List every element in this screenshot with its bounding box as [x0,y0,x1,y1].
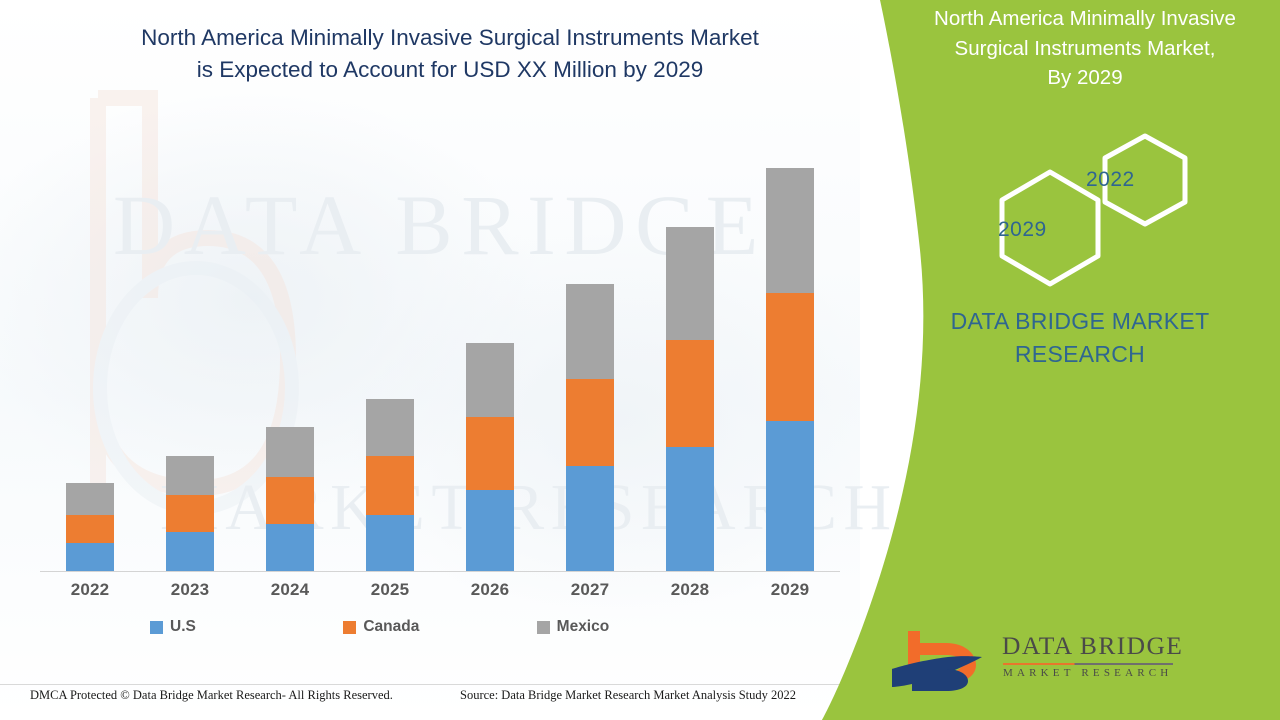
bar-segment-canada [766,293,814,421]
green-panel-content: North America Minimally Invasive Surgica… [880,0,1280,720]
x-axis-label-2025: 2025 [340,580,440,600]
bar-segment-us [766,421,814,571]
footer-divider [0,684,860,685]
bar-segment-canada [666,340,714,447]
bar-segment-us [666,447,714,571]
panel-title-line-2: Surgical Instruments Market, [890,34,1280,64]
legend-label: U.S [170,618,196,636]
bar-segment-canada [466,417,514,490]
brand-name-line-2: RESEARCH [880,338,1280,371]
legend-label: Canada [363,618,419,636]
infographic-canvas: DATA BRIDGE MARKET RESEARCH North Americ… [0,0,1280,720]
bar-stack-2027 [566,284,614,571]
bar-column [140,121,240,571]
bar-stack-2023 [166,456,214,571]
bar-segment-mexico [466,343,514,417]
x-axis-label-2027: 2027 [540,580,640,600]
bar-stack-2025 [366,399,414,571]
bar-segment-mexico [766,168,814,293]
chart-legend: U.SCanadaMexico [150,618,730,636]
bar-segment-canada [266,477,314,524]
bar-stack-2028 [666,227,714,571]
logo-rule [1003,663,1173,665]
bar-segment-mexico [566,284,614,379]
legend-swatch-icon [343,621,356,634]
hexagon-2029-label: 2029 [998,218,1047,242]
bar-stack-2029 [766,168,814,571]
bar-stack-2026 [466,343,514,571]
x-axis-label-2024: 2024 [240,580,340,600]
bar-column [640,121,740,571]
bar-segment-canada [166,495,214,532]
bar-column [540,121,640,571]
hexagon-badges: 2029 2022 [960,128,1280,298]
bar-segment-us [166,532,214,571]
bar-column [340,121,440,571]
panel-title-line-3: By 2029 [890,63,1280,93]
bar-segment-us [366,515,414,571]
bar-column [440,121,540,571]
footer-source: Source: Data Bridge Market Research Mark… [460,688,796,703]
legend-swatch-icon [150,621,163,634]
page-title-line-2: is Expected to Account for USD XX Millio… [50,54,850,86]
bar-segment-mexico [366,399,414,456]
hexagon-2022-label: 2022 [1086,168,1135,192]
x-axis-labels: 20222023202420252026202720282029 [40,580,840,600]
legend-item-us[interactable]: U.S [150,618,343,636]
legend-label: Mexico [557,618,610,636]
legend-swatch-icon [537,621,550,634]
bar-segment-mexico [266,427,314,477]
panel-title-line-1: North America Minimally Invasive [890,4,1280,34]
data-bridge-logo-mark [890,625,995,695]
page-title-line-1: North America Minimally Invasive Surgica… [50,22,850,54]
stacked-bar-chart [40,120,840,572]
brand-name-line-1: DATA BRIDGE MARKET [880,305,1280,338]
x-axis-label-2029: 2029 [740,580,840,600]
x-axis-line [40,571,840,572]
bar-column [40,121,140,571]
bar-segment-canada [566,379,614,467]
legend-item-canada[interactable]: Canada [343,618,536,636]
x-axis-label-2022: 2022 [40,580,140,600]
bar-stack-2022 [66,483,114,571]
bar-segment-us [66,543,114,571]
brand-name: DATA BRIDGE MARKET RESEARCH [880,305,1280,370]
bar-segment-us [566,466,614,571]
data-bridge-logo: DATA BRIDGE MARKET RESEARCH [890,625,1220,697]
hexagon-outlines [960,128,1280,298]
bar-segment-mexico [66,483,114,515]
bar-stack-2024 [266,427,314,571]
x-axis-label-2026: 2026 [440,580,540,600]
bar-segment-mexico [166,456,214,494]
bar-column [240,121,340,571]
bar-segment-canada [66,515,114,543]
x-axis-label-2028: 2028 [640,580,740,600]
bar-column [740,121,840,571]
logo-wordmark: DATA BRIDGE [1002,631,1183,661]
legend-item-mexico[interactable]: Mexico [537,618,730,636]
bar-segment-mexico [666,227,714,341]
chart-bars [40,121,840,571]
bar-segment-canada [366,456,414,515]
bar-segment-us [266,524,314,571]
logo-subtitle: MARKET RESEARCH [1003,667,1172,679]
x-axis-label-2023: 2023 [140,580,240,600]
footer-copyright: DMCA Protected © Data Bridge Market Rese… [30,688,393,703]
bar-segment-us [466,490,514,571]
panel-title: North America Minimally Invasive Surgica… [890,4,1280,93]
page-title: North America Minimally Invasive Surgica… [50,22,850,86]
